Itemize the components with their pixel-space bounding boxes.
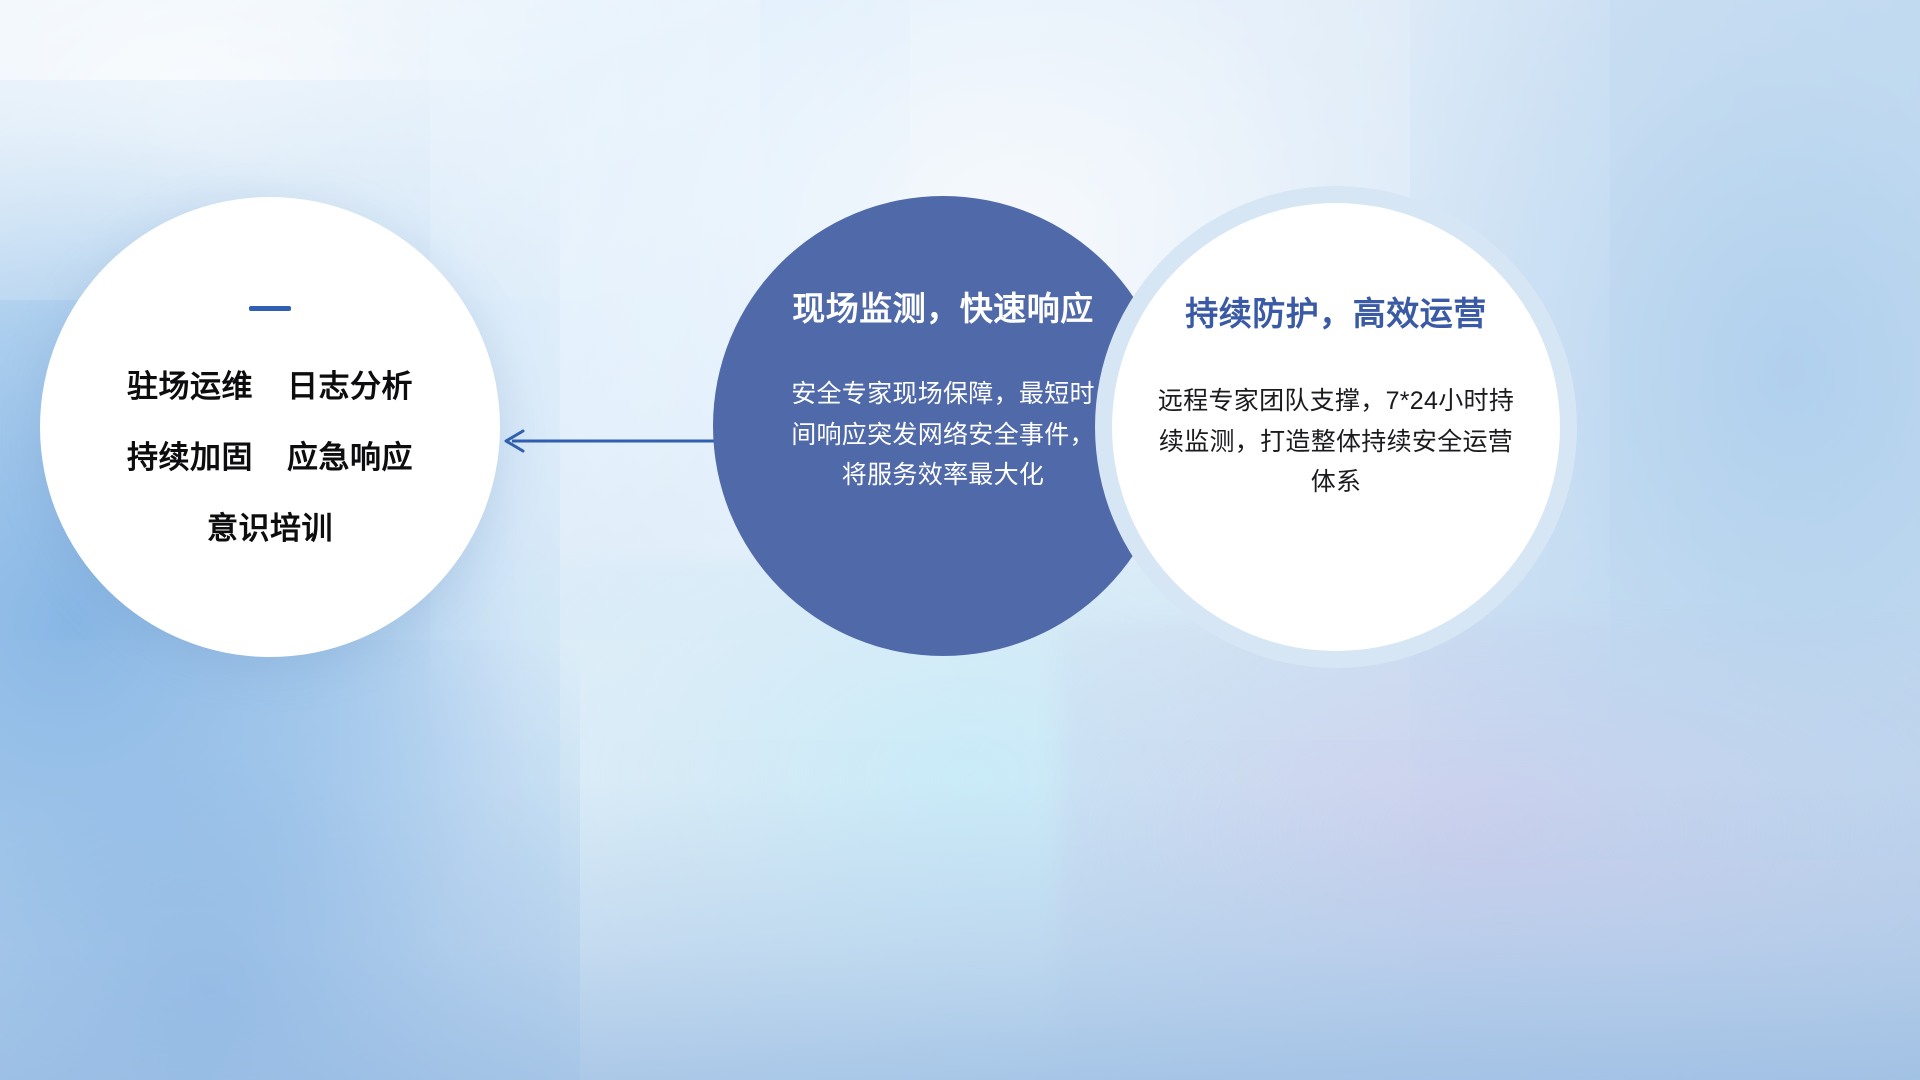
capability-tag-list: 驻场运维 日志分析 持续加固 应急响应 意识培训: [127, 361, 413, 548]
capability-circle-right[interactable]: 持续防护，高效运营 远程专家团队支撑，7*24小时持续监测，打造整体持续安全运营…: [1112, 203, 1560, 651]
capability-tag-row: 驻场运维 日志分析: [127, 361, 413, 406]
accent-dash-icon: [249, 306, 291, 311]
diagram-stage: 驻场运维 日志分析 持续加固 应急响应 意识培训 现场监测，快速响应 安全专家现…: [0, 0, 1920, 1080]
capability-tag[interactable]: 持续加固: [127, 432, 253, 477]
capability-circle-left-content: 驻场运维 日志分析 持续加固 应急响应 意识培训: [40, 197, 500, 657]
capability-tag[interactable]: 日志分析: [287, 361, 413, 406]
flow-arrow-icon: [496, 424, 726, 458]
capability-tag[interactable]: 驻场运维: [127, 361, 253, 406]
capability-tag-row: 持续加固 应急响应: [127, 432, 413, 477]
middle-circle-title: 现场监测，快速响应: [792, 282, 1094, 330]
capability-circle-left[interactable]: 驻场运维 日志分析 持续加固 应急响应 意识培训: [40, 197, 500, 657]
capability-circle-right-content: 持续防护，高效运营 远程专家团队支撑，7*24小时持续监测，打造整体持续安全运营…: [1112, 203, 1560, 651]
capability-tag[interactable]: 应急响应: [287, 432, 413, 477]
right-circle-body: 远程专家团队支撑，7*24小时持续监测，打造整体持续安全运营体系: [1152, 381, 1520, 503]
capability-tag-row: 意识培训: [207, 503, 333, 548]
middle-circle-body: 安全专家现场保障，最短时间响应突发网络安全事件，将服务效率最大化: [791, 374, 1095, 496]
right-circle-title: 持续防护，高效运营: [1185, 287, 1487, 335]
capability-tag[interactable]: 意识培训: [207, 503, 333, 548]
